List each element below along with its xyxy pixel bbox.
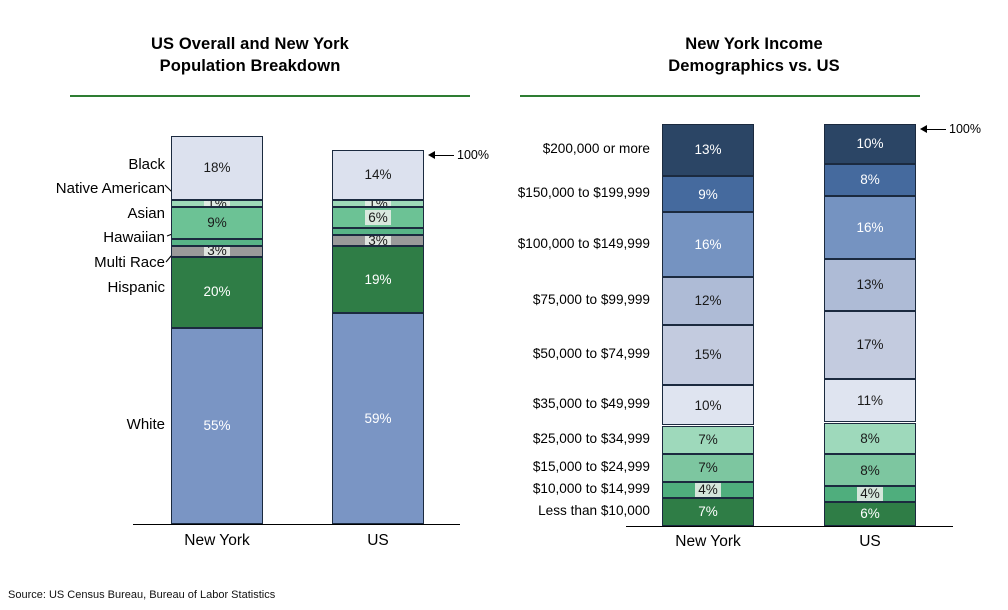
arrow-left-icon <box>428 151 454 160</box>
left-chart-title: US Overall and New York Population Break… <box>0 33 500 77</box>
income-label-200-000-or-more: $200,000 or more <box>500 141 650 156</box>
category-label-hispanic: Hispanic <box>10 279 165 296</box>
segment-value-label: 4% <box>695 482 721 498</box>
income-label-25-000-to-34-999: $25,000 to $34,999 <box>500 431 650 446</box>
income-label-75-000-to-99-999: $75,000 to $99,999 <box>500 292 650 307</box>
segment-50-000-to-74-999[interactable]: 17% <box>824 311 916 379</box>
right-chart-title-line2: Demographics vs. US <box>500 55 1008 77</box>
income-label-15-000-to-24-999: $15,000 to $24,999 <box>500 459 650 474</box>
segment-less-than-10-000[interactable]: 7% <box>662 498 754 526</box>
source-note: Source: US Census Bureau, Bureau of Labo… <box>8 589 275 601</box>
income-label-50-000-to-74-999: $50,000 to $74,999 <box>500 346 650 361</box>
segment-value-label: 18% <box>203 161 230 175</box>
left-chart-title-line2: Population Breakdown <box>0 55 500 77</box>
segment-value-label: 1% <box>365 200 391 207</box>
income-demographics-chart: New York Income Demographics vs. US $200… <box>500 0 1008 610</box>
segment-value-label: 7% <box>698 461 718 475</box>
segment-hawaiian[interactable] <box>332 228 424 235</box>
bar-new-york-income[interactable]: 7%4%7%7%10%15%12%16%9%13% <box>662 124 754 526</box>
segment-white[interactable]: 55% <box>171 328 263 524</box>
segment-value-label: 9% <box>207 216 227 230</box>
left-xtick-new-york: New York <box>157 532 277 550</box>
segment-white[interactable]: 59% <box>332 313 424 524</box>
segment-200-000-or-more[interactable]: 13% <box>662 124 754 176</box>
segment-native-american[interactable]: 1% <box>171 200 263 207</box>
left-total-value: 100% <box>457 148 489 162</box>
income-label-35-000-to-49-999: $35,000 to $49,999 <box>500 396 650 411</box>
segment-black[interactable]: 14% <box>332 150 424 200</box>
segment-asian[interactable]: 6% <box>332 207 424 228</box>
segment-value-label: 7% <box>698 433 718 447</box>
segment-value-label: 3% <box>365 235 391 246</box>
segment-native-american[interactable]: 1% <box>332 200 424 207</box>
segment-25-000-to-34-999[interactable]: 8% <box>824 423 916 455</box>
segment-hispanic[interactable]: 19% <box>332 246 424 314</box>
segment-value-label: 10% <box>856 137 883 151</box>
income-label-10-000-to-14-999: $10,000 to $14,999 <box>500 481 650 496</box>
bar-us-income[interactable]: 6%4%8%8%11%17%13%16%8%10% <box>824 124 916 526</box>
income-label-150-000-to-199-999: $150,000 to $199,999 <box>500 185 650 200</box>
bar-new-york-population[interactable]: 55%20%3%9%1%18% <box>171 136 263 524</box>
right-x-axis <box>626 526 953 527</box>
segment-value-label: 13% <box>694 143 721 157</box>
segment-value-label: 17% <box>856 338 883 352</box>
segment-value-label: 8% <box>860 464 880 478</box>
left-total-annotation: 100% <box>428 148 489 162</box>
segment-value-label: 15% <box>694 348 721 362</box>
category-label-multi-race: Multi Race <box>10 254 165 271</box>
segment-value-label: 10% <box>694 399 721 413</box>
segment-black[interactable]: 18% <box>171 136 263 200</box>
arrow-left-icon <box>920 125 946 134</box>
segment-multi-race[interactable]: 3% <box>332 235 424 246</box>
segment-10-000-to-14-999[interactable]: 4% <box>662 482 754 498</box>
segment-value-label: 16% <box>856 221 883 235</box>
segment-100-000-to-149-999[interactable]: 16% <box>662 212 754 276</box>
segment-less-than-10-000[interactable]: 6% <box>824 502 916 526</box>
right-chart-title: New York Income Demographics vs. US <box>500 33 1008 77</box>
right-chart-title-line1: New York Income <box>500 33 1008 55</box>
segment-100-000-to-149-999[interactable]: 16% <box>824 196 916 260</box>
segment-value-label: 1% <box>204 200 230 207</box>
income-label-100-000-to-149-999: $100,000 to $149,999 <box>500 236 650 251</box>
segment-value-label: 16% <box>694 238 721 252</box>
segment-value-label: 12% <box>694 294 721 308</box>
segment-15-000-to-24-999[interactable]: 7% <box>662 454 754 482</box>
segment-75-000-to-99-999[interactable]: 12% <box>662 277 754 325</box>
category-label-black: Black <box>10 156 165 173</box>
bar-us-population[interactable]: 59%19%3%6%1%14% <box>332 150 424 524</box>
segment-150-000-to-199-999[interactable]: 9% <box>662 176 754 212</box>
segment-25-000-to-34-999[interactable]: 7% <box>662 426 754 454</box>
right-total-value: 100% <box>949 122 981 136</box>
segment-35-000-to-49-999[interactable]: 11% <box>824 379 916 423</box>
left-chart-title-line1: US Overall and New York <box>0 33 500 55</box>
segment-value-label: 3% <box>204 246 230 257</box>
segment-asian[interactable]: 9% <box>171 207 263 239</box>
segment-10-000-to-14-999[interactable]: 4% <box>824 486 916 502</box>
segment-value-label: 13% <box>856 278 883 292</box>
right-title-divider <box>520 95 920 97</box>
segment-value-label: 6% <box>860 507 880 521</box>
left-x-axis <box>133 524 460 525</box>
left-title-divider <box>70 95 470 97</box>
segment-value-label: 59% <box>364 412 391 426</box>
segment-value-label: 7% <box>698 505 718 519</box>
category-label-native-american: Native American <box>10 180 165 197</box>
left-xtick-us: US <box>318 532 438 550</box>
right-xtick-new-york: New York <box>648 533 768 551</box>
category-label-hawaiian: Hawaiian <box>10 229 165 246</box>
segment-hawaiian[interactable] <box>171 239 263 246</box>
segment-hispanic[interactable]: 20% <box>171 257 263 328</box>
segment-150-000-to-199-999[interactable]: 8% <box>824 164 916 196</box>
segment-50-000-to-74-999[interactable]: 15% <box>662 325 754 385</box>
segment-200-000-or-more[interactable]: 10% <box>824 124 916 164</box>
right-xtick-us: US <box>810 533 930 551</box>
segment-value-label: 14% <box>364 168 391 182</box>
segment-multi-race[interactable]: 3% <box>171 246 263 257</box>
segment-15-000-to-24-999[interactable]: 8% <box>824 454 916 486</box>
segment-value-label: 9% <box>698 188 718 202</box>
segment-value-label: 11% <box>857 394 883 408</box>
segment-value-label: 6% <box>365 210 391 226</box>
population-breakdown-chart: US Overall and New York Population Break… <box>0 0 500 610</box>
segment-35-000-to-49-999[interactable]: 10% <box>662 385 754 425</box>
category-label-asian: Asian <box>10 205 165 222</box>
segment-value-label: 8% <box>860 173 880 187</box>
segment-value-label: 19% <box>364 273 391 287</box>
income-label-less-than-10-000: Less than $10,000 <box>500 503 650 518</box>
segment-value-label: 4% <box>857 486 883 502</box>
segment-value-label: 20% <box>203 285 230 299</box>
category-label-white: White <box>10 416 165 433</box>
segment-value-label: 55% <box>203 419 230 433</box>
segment-75-000-to-99-999[interactable]: 13% <box>824 259 916 311</box>
segment-value-label: 8% <box>860 432 880 446</box>
right-total-annotation: 100% <box>920 122 981 136</box>
